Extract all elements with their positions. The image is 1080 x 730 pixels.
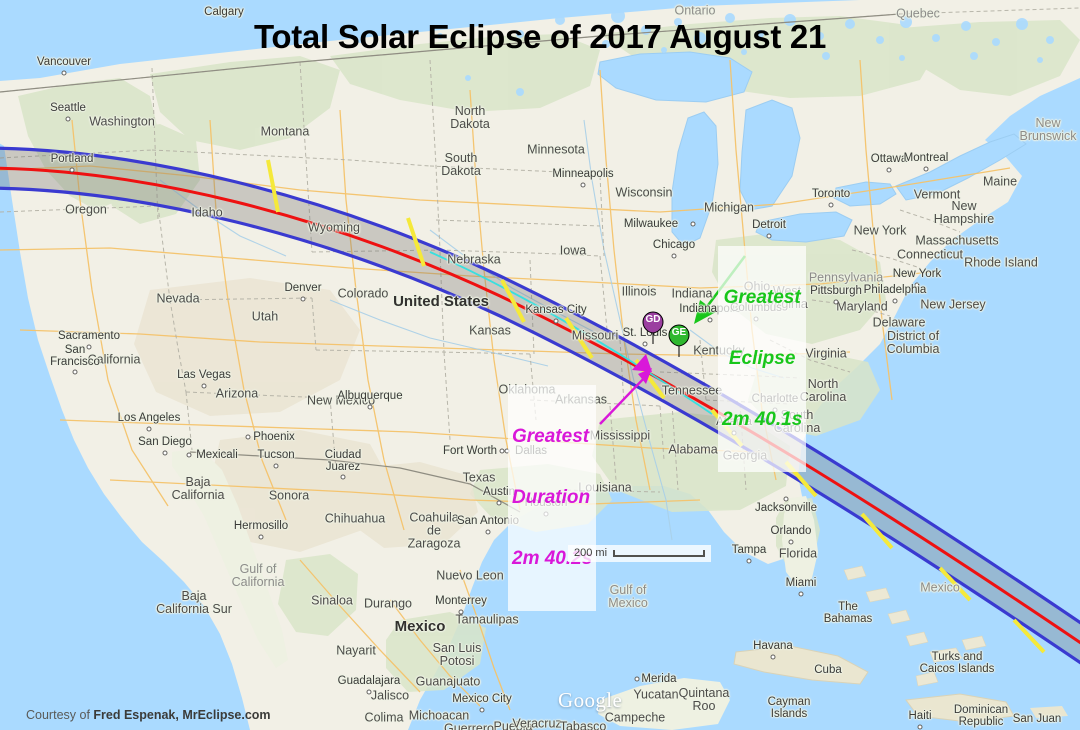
- city-marker-dot: [66, 117, 71, 122]
- city-marker-dot: [915, 283, 920, 288]
- city-marker-dot: [918, 725, 923, 730]
- greatest-eclipse-annotation: Greatest Eclipse 2m 40.1s: [718, 246, 806, 472]
- greatest-eclipse-line2: Eclipse: [722, 349, 802, 369]
- city-marker-dot: [246, 435, 251, 440]
- greatest-duration-pin[interactable]: GD: [640, 309, 666, 345]
- city-marker-dot: [62, 71, 67, 76]
- city-marker-dot: [70, 168, 75, 173]
- city-marker-dot: [635, 677, 640, 682]
- city-marker-dot: [73, 370, 78, 375]
- city-marker-dot: [459, 610, 464, 615]
- city-marker-dot: [924, 167, 929, 172]
- greatest-duration-annotation: Greatest Duration 2m 40.2s: [508, 385, 596, 611]
- scale-bar-label: 200 mi: [574, 547, 607, 559]
- city-marker-dot: [708, 318, 713, 323]
- city-marker-dot: [784, 497, 789, 502]
- city-marker-dot: [767, 234, 772, 239]
- city-marker-dot: [887, 168, 892, 173]
- city-marker-dot: [799, 592, 804, 597]
- city-marker-dot: [893, 299, 898, 304]
- pin-code-label: GE: [666, 327, 692, 338]
- pin-code-label: GD: [640, 314, 666, 325]
- google-watermark: Google: [558, 688, 622, 713]
- city-marker-dot: [274, 464, 279, 469]
- greatest-duration-line1: Greatest: [512, 427, 592, 447]
- city-marker-dot: [829, 203, 834, 208]
- scale-bar: 200 mi: [568, 545, 711, 562]
- greatest-duration-line2: Duration: [512, 488, 592, 508]
- page-title: Total Solar Eclipse of 2017 August 21: [0, 18, 1080, 56]
- city-marker-dot: [789, 540, 794, 545]
- credit-line: Courtesy of Fred Espenak, MrEclipse.com: [26, 708, 271, 722]
- eclipse-map[interactable]: Total Solar Eclipse of 2017 August 21 Un…: [0, 0, 1080, 730]
- city-marker-dot: [486, 530, 491, 535]
- credit-author: Fred Espenak, MrEclipse.com: [93, 708, 270, 722]
- city-marker-dot: [187, 453, 192, 458]
- city-marker-dot: [341, 475, 346, 480]
- city-marker-dot: [87, 345, 92, 350]
- city-marker-dot: [771, 655, 776, 660]
- city-marker-dot: [691, 222, 696, 227]
- city-marker-dot: [367, 690, 372, 695]
- credit-prefix: Courtesy of: [26, 708, 93, 722]
- city-marker-dot: [554, 319, 559, 324]
- city-marker-dot: [259, 535, 264, 540]
- city-marker-dot: [147, 427, 152, 432]
- city-marker-dot: [202, 384, 207, 389]
- city-marker-dot: [497, 501, 502, 506]
- city-marker-dot: [301, 297, 306, 302]
- city-marker-dot: [368, 405, 373, 410]
- city-marker-dot: [747, 559, 752, 564]
- scale-bar-line: [613, 550, 705, 557]
- city-marker-dot: [480, 708, 485, 713]
- greatest-eclipse-line1: Greatest: [722, 288, 802, 308]
- map-canvas: [0, 0, 1080, 730]
- city-marker-dot: [163, 451, 168, 456]
- city-marker-dot: [834, 300, 839, 305]
- greatest-eclipse-duration: 2m 40.1s: [722, 410, 802, 430]
- greatest-eclipse-pin[interactable]: GE: [666, 322, 692, 358]
- city-marker-dot: [672, 254, 677, 259]
- city-marker-dot: [581, 183, 586, 188]
